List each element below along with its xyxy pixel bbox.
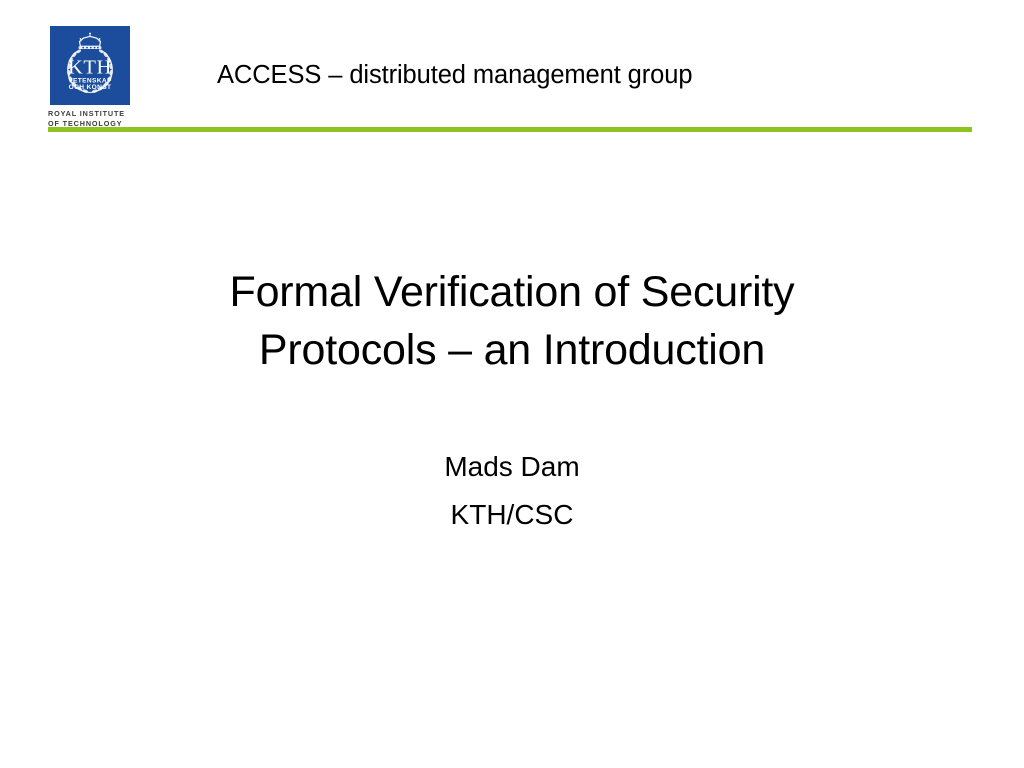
author-name: Mads Dam [0,443,1024,491]
slide-title-line2: Protocols – an Introduction [0,321,1024,379]
header-title: ACCESS – distributed management group [217,61,692,90]
slide-title: Formal Verification of Security Protocol… [0,263,1024,379]
slide-subtitle: Mads Dam KTH/CSC [0,443,1024,539]
kth-wordmark: ROYAL INSTITUTE OF TECHNOLOGY [48,109,146,128]
crest-motto-line2: OCH KONST [69,84,112,91]
crest-kth-text: KTH [68,57,112,79]
kth-wordmark-line1: ROYAL INSTITUTE [48,109,146,119]
presentation-slide: KTH VETENSKAP OCH KONST ROYAL INSTITUTE … [0,0,1024,768]
kth-logo: KTH VETENSKAP OCH KONST [50,26,130,105]
slide-title-line1: Formal Verification of Security [0,263,1024,321]
author-affiliation: KTH/CSC [0,491,1024,539]
green-divider-rule [48,127,972,132]
kth-branding-block: KTH VETENSKAP OCH KONST ROYAL INSTITUTE … [48,26,146,130]
